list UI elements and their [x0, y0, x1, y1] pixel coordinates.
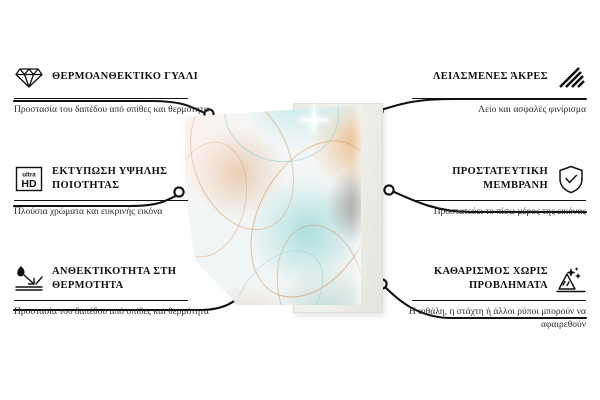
sparkle-clean-icon: [556, 264, 586, 294]
svg-text:HD: HD: [21, 178, 37, 190]
product-image: [185, 105, 385, 315]
feature-description: Προστατεύει το πίσω μέρος της εικόνας: [388, 206, 586, 219]
striped-triangle-icon: [556, 62, 586, 92]
divider: [412, 300, 586, 301]
feature-description: Λείο και ασφαλές φινίρισμα: [388, 104, 586, 117]
divider: [412, 200, 586, 201]
feature-description: Πλούσια χρώματα και ευκρινής εικόνα: [14, 206, 212, 219]
divider: [14, 98, 188, 99]
diamond-icon: [14, 62, 44, 92]
feature-high-quality-print: ultra HD ΕΚΤΥΠΩΣΗ ΥΨΗΛΗΣ ΠΟΙΟΤΗΤΑΣ Πλούσ…: [14, 162, 212, 219]
feature-heat-resistant-glass: ΘΕΡΜΟΑΝΘΕΚΤΙΚΟ ΓΥΑΛΙ Προστασία του δαπέδ…: [14, 60, 212, 117]
divider: [412, 98, 586, 99]
feature-title: ΠΡΟΣΤΑΤΕΥΤΙΚΗ ΜΕΜΒΡΑΝΗ: [388, 165, 548, 193]
feature-title: ΘΕΡΜΟΑΝΘΕΚΤΙΚΟ ΓΥΑΛΙ: [52, 70, 198, 84]
divider: [14, 300, 188, 301]
feature-title: ΛΕΙΑΣΜΕΝΕΣ ΆΚΡΕΣ: [433, 70, 548, 84]
feature-description: Προστασία του δαπέδου από σπίθες και θερ…: [14, 104, 212, 117]
shield-check-icon: [556, 164, 586, 194]
feature-easy-cleaning: ΚΑΘΑΡΙΣΜΟΣ ΧΩΡΙΣ ΠΡΟΒΛΗΜΑΤΑ Η αιθάλη, η …: [388, 262, 586, 333]
feature-description: Προστασία του δαπέδου από σπίθες και θερ…: [14, 306, 212, 319]
flame-deflect-icon: [14, 264, 44, 294]
feature-description: Η αιθάλη, η στάχτη ή άλλοι ρύποι μπορούν…: [388, 306, 586, 333]
feature-polished-edges: ΛΕΙΑΣΜΕΝΕΣ ΆΚΡΕΣ Λείο και ασφαλές φινίρι…: [388, 60, 586, 117]
feature-heat-durability: ΑΝΘΕΚΤΙΚΟΤΗΤΑ ΣΤΗ ΘΕΡΜΟΤΗΤΑ Προστασία το…: [14, 262, 212, 319]
infographic-canvas: ΘΕΡΜΟΑΝΘΕΚΤΙΚΟ ΓΥΑΛΙ Προστασία του δαπέδ…: [0, 0, 600, 400]
ultra-hd-badge-icon: ultra HD: [14, 164, 44, 194]
feature-protective-membrane: ΠΡΟΣΤΑΤΕΥΤΙΚΗ ΜΕΜΒΡΑΝΗ Προστατεύει το πί…: [388, 162, 586, 219]
feature-title: ΕΚΤΥΠΩΣΗ ΥΨΗΛΗΣ ΠΟΙΟΤΗΤΑΣ: [52, 165, 212, 193]
feature-title: ΑΝΘΕΚΤΙΚΟΤΗΤΑ ΣΤΗ ΘΕΡΜΟΤΗΤΑ: [52, 265, 212, 293]
feature-title: ΚΑΘΑΡΙΣΜΟΣ ΧΩΡΙΣ ΠΡΟΒΛΗΜΑΤΑ: [388, 265, 548, 293]
divider: [14, 200, 188, 201]
